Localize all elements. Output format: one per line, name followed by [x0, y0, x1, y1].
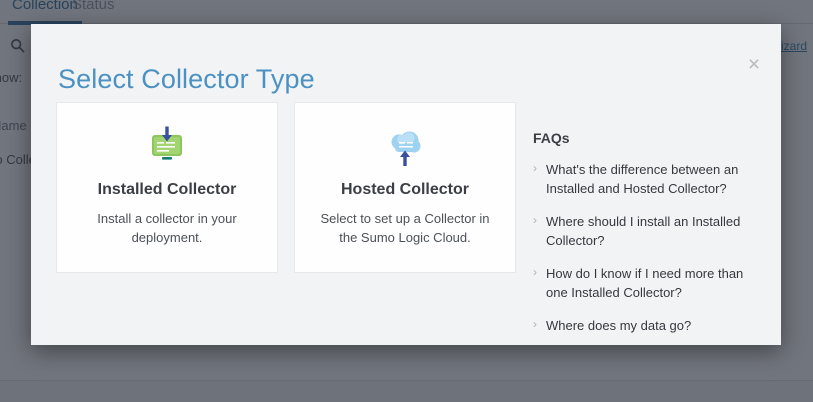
close-icon[interactable]: × — [743, 54, 765, 76]
faq-item[interactable]: › Where should I install an Installed Co… — [533, 212, 759, 250]
card-title-hosted-collector: Hosted Collector — [295, 181, 515, 199]
chevron-right-icon: › — [533, 263, 537, 282]
faq-heading: FAQs — [533, 130, 759, 146]
faq-section: FAQs › What's the difference between an … — [533, 130, 759, 349]
chevron-right-icon: › — [533, 159, 537, 178]
faq-item-label: What's the difference between an Install… — [546, 162, 738, 196]
card-title-installed-collector: Installed Collector — [57, 181, 277, 199]
chevron-right-icon: › — [533, 315, 537, 334]
collector-type-cards: Installed Collector Install a collector … — [56, 102, 516, 273]
faq-item[interactable]: › Where does my data go? — [533, 316, 759, 335]
chevron-right-icon: › — [533, 211, 537, 230]
card-installed-collector[interactable]: Installed Collector Install a collector … — [56, 102, 278, 273]
hosted-collector-cloud-upload-icon — [295, 125, 515, 171]
faq-item-label: Where does my data go? — [546, 318, 691, 333]
card-description-hosted-collector: Select to set up a Collector in the Sumo… — [313, 209, 497, 247]
card-description-installed-collector: Install a collector in your deployment. — [75, 209, 259, 247]
faq-item[interactable]: › How do I know if I need more than one … — [533, 264, 759, 302]
faq-item[interactable]: › What's the difference between an Insta… — [533, 160, 759, 198]
dialog-title: Select Collector Type — [58, 64, 315, 95]
faq-item-label: How do I know if I need more than one In… — [546, 266, 743, 300]
installed-collector-monitor-download-icon — [57, 125, 277, 171]
card-hosted-collector[interactable]: Hosted Collector Select to set up a Coll… — [294, 102, 516, 273]
select-collector-type-dialog: × Select Collector Type — [31, 24, 781, 345]
faq-item-label: Where should I install an Installed Coll… — [546, 214, 740, 248]
page-root: Collection Status Search Setup Wizard Sh… — [0, 0, 813, 402]
